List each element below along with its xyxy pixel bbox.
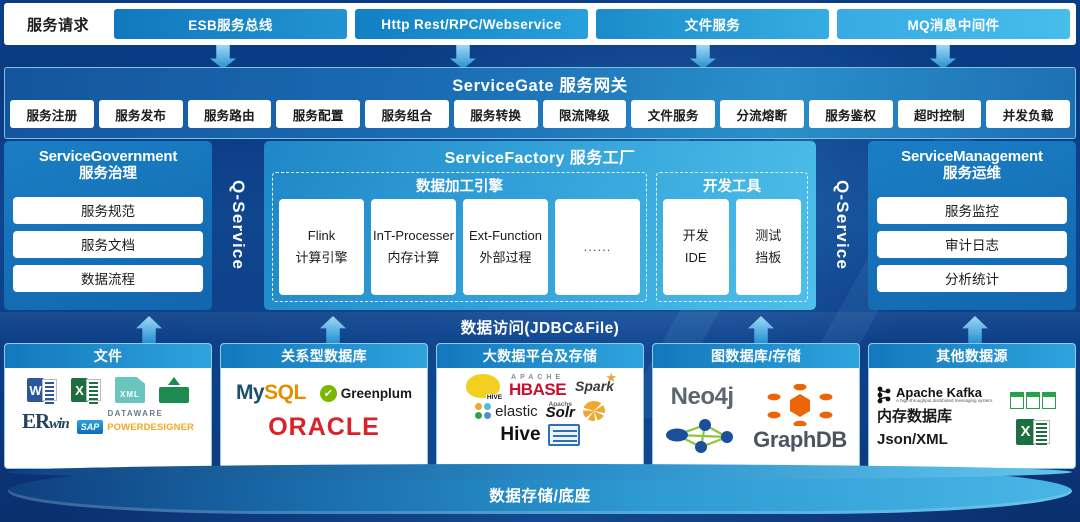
gate-chip-publish[interactable]: 服务发布 [99,100,183,128]
solr-sunburst-icon [583,401,605,421]
source-card-bigdata-title: 大数据平台及存储 [437,344,643,368]
devtool-tile-ide[interactable]: 开发 IDE [663,199,729,295]
source-card-files[interactable]: 文件 W X XML [4,343,212,469]
engine-tile-int-processer-desc: 内存计算 [387,251,439,265]
gate-chip-timeout[interactable]: 超时控制 [898,100,982,128]
greenplum-mark-icon: ✔ [320,385,337,402]
excel-icon: X [71,378,101,402]
service-management-title-en: ServiceManagement [877,148,1067,166]
service-management-title-cn: 服务运维 [877,166,1067,183]
greenplum-logo-text: Greenplum [341,386,412,401]
management-item-monitor[interactable]: 服务监控 [877,197,1067,224]
xml-icon: XML [115,377,145,403]
bigdata-logo-row-3: Hive [443,424,637,446]
file-logo-row-1: W X XML [11,377,205,403]
devtool-tile-test[interactable]: 测试 挡板 [736,199,802,295]
neo4j-logo: Neo4j [671,383,734,411]
service-government-panel: ServiceGovernment 服务治理 服务规范 服务文档 数据流程 [4,141,212,310]
kafka-logo-tagline: A high-throughput distributed messaging … [896,399,993,404]
devtool-tile-test-name: 测试 [755,229,781,243]
data-source-cards: 文件 W X XML [4,343,1076,469]
green-upload-icon [159,377,189,403]
service-gate-title: ServiceGate 服务网关 [10,72,1070,100]
elastic-mark-icon [475,403,491,419]
source-card-bigdata[interactable]: 大数据平台及存储 APACHE HBASE Spark [436,343,644,469]
service-government-title-cn: 服务治理 [13,166,203,183]
erwin-logo: ERwin [22,409,69,434]
data-access-bar: 数据访问(JDBC&File) [0,312,1080,342]
mysql-logo: MySQL [236,381,306,405]
gate-chip-fileservice[interactable]: 文件服务 [631,100,715,128]
graphdb-logo: GraphDB [753,427,847,453]
gate-chip-transform[interactable]: 服务转换 [454,100,538,128]
source-card-rdbms-body: MySQL ✔ Greenplum ORACLE [221,368,427,468]
gate-chip-circuitbreaker[interactable]: 分流熔断 [720,100,804,128]
storage-platform-label: 数据存储/底座 [0,462,1080,520]
neo4j-graph-icon [665,413,739,453]
gate-chip-route[interactable]: 服务路由 [188,100,272,128]
xml-icon-label: XML [120,390,140,399]
engine-tile-int-processer-name: InT-Processer [373,229,454,243]
devtool-tile-ide-desc: IDE [685,251,707,265]
devtool-tile-test-desc: 挡板 [755,251,781,265]
service-management-panel: ServiceManagement 服务运维 服务监控 审计日志 分析统计 [868,141,1076,310]
engine-tile-flink-name: Flink [308,229,335,243]
engine-tile-more[interactable]: ...... [555,199,640,295]
source-card-other-body: Apache Kafka A high-throughput distribut… [869,368,1075,468]
engine-tile-flink-desc: 计算引擎 [295,251,347,265]
source-card-files-body: W X XML ERwin [5,368,211,468]
devtool-tile-ide-name: 开发 [683,229,709,243]
service-request-button-http[interactable]: Http Rest/RPC/Webservice [355,9,588,39]
bigdata-logo-row-1: APACHE HBASE Spark [443,374,637,398]
elastic-logo-text: elastic [495,403,538,420]
file-logo-row-2: ERwin DATAWARE SAP POWERDESIGNER [11,409,205,434]
governance-item-doc[interactable]: 服务文档 [13,231,203,258]
other-source-line-2: Json/XML [877,430,997,450]
arrow-down-icon [210,45,236,69]
excel-icon: X [1016,419,1050,445]
governance-item-dataflow[interactable]: 数据流程 [13,265,203,292]
greenplum-logo: ✔ Greenplum [320,385,412,402]
q-service-text-right: Q-Service [832,180,852,270]
dataware-logo: DATAWARE [107,409,163,418]
engine-tile-more-label: ...... [584,240,612,254]
engine-tile-ext-function-desc: 外部过程 [479,251,531,265]
source-card-graphdb-body: Neo4j [653,368,859,468]
rdbms-logo-row-1: MySQL ✔ Greenplum [227,381,421,405]
kafka-mark-icon [877,386,893,404]
source-card-bigdata-body: APACHE HBASE Spark elastic [437,368,643,468]
spark-logo: Spark [575,378,614,394]
dev-tools-group: 开发工具 开发 IDE 测试 挡板 [656,172,808,302]
source-card-other[interactable]: 其他数据源 [868,343,1076,469]
service-gate-chip-row: 服务注册 服务发布 服务路由 服务配置 服务组合 服务转换 限流降级 文件服务 … [10,100,1070,128]
word-icon: W [27,378,57,402]
service-factory-panel: ServiceFactory 服务工厂 数据加工引擎 Flink 计算引擎 In… [264,141,816,310]
other-source-line-1: 内存数据库 [877,407,997,427]
source-card-graphdb-title: 图数据库/存储 [653,344,859,368]
rdbms-logo-row-2: ORACLE [227,413,421,442]
source-card-other-title: 其他数据源 [869,344,1075,368]
hbase-logo-name: HBASE [509,382,566,397]
source-card-files-title: 文件 [5,344,211,368]
erwin-logo-sub: win [49,416,69,432]
dev-tools-title: 开发工具 [663,176,801,199]
q-service-label-right: Q-Service [816,141,868,310]
source-card-graphdb[interactable]: 图数据库/存储 Neo4j [652,343,860,469]
sap-logo: SAP [77,420,104,434]
oracle-logo: ORACLE [268,413,380,442]
engine-tile-ext-function[interactable]: Ext-Function 外部过程 [463,199,548,295]
mysql-logo-my: My [236,381,264,404]
service-gate-panel: ServiceGate 服务网关 服务注册 服务发布 服务路由 服务配置 服务组… [4,67,1076,139]
hive-bee-logo [466,374,500,398]
gate-chip-register[interactable]: 服务注册 [10,100,94,128]
solr-logo: Apache Solr [546,402,575,420]
gate-chip-compose[interactable]: 服务组合 [365,100,449,128]
table-grid-icon [1010,392,1056,409]
service-management-title: ServiceManagement 服务运维 [877,148,1067,183]
service-request-title: 服务请求 [10,14,106,35]
powerdesigner-logo: POWERDESIGNER [107,422,194,433]
governance-item-spec[interactable]: 服务规范 [13,197,203,224]
hive-logo: Hive [500,424,540,446]
arrow-down-icon [450,45,476,69]
hbase-logo: APACHE HBASE [509,375,566,397]
engine-tile-int-processer[interactable]: InT-Processer 内存计算 [371,199,456,295]
source-card-rdbms-title: 关系型数据库 [221,344,427,368]
service-request-button-esb[interactable]: ESB服务总线 [114,9,347,39]
service-factory-title: ServiceFactory 服务工厂 [272,146,808,172]
flow-arrows-down [0,45,1080,69]
engine-tile-flink[interactable]: Flink 计算引擎 [279,199,364,295]
arrow-down-icon [690,45,716,69]
graphdb-hex-icon [763,384,837,426]
gate-chip-concurrency[interactable]: 并发负载 [986,100,1070,128]
gate-chip-auth[interactable]: 服务鉴权 [809,100,893,128]
elastic-logo: elastic [475,403,538,420]
service-layer: ServiceGovernment 服务治理 服务规范 服务文档 数据流程 Q-… [4,141,1076,310]
hive-doc-icon [548,424,580,446]
service-government-title: ServiceGovernment 服务治理 [13,148,203,183]
data-access-label: 数据访问(JDBC&File) [461,316,619,338]
storage-platform: 数据存储/底座 [0,462,1080,520]
service-government-title-en: ServiceGovernment [13,148,203,166]
q-service-text-left: Q-Service [228,180,248,270]
management-item-analytics[interactable]: 分析统计 [877,265,1067,292]
source-card-rdbms[interactable]: 关系型数据库 MySQL ✔ Greenplum ORACLE [220,343,428,469]
q-service-label-left: Q-Service [212,141,264,310]
service-request-bar: 服务请求 ESB服务总线 Http Rest/RPC/Webservice 文件… [4,3,1076,45]
data-processing-engine-title: 数据加工引擎 [279,176,640,199]
arrow-down-icon [930,45,956,69]
engine-tile-ext-function-name: Ext-Function [469,229,542,243]
service-request-button-mq[interactable]: MQ消息中间件 [837,9,1070,39]
mysql-logo-sql: SQL [264,381,306,404]
erwin-logo-text: ER [22,409,49,433]
service-request-button-file[interactable]: 文件服务 [596,9,829,39]
management-item-auditlog[interactable]: 审计日志 [877,231,1067,258]
kafka-logo: Apache Kafka A high-throughput distribut… [877,386,997,404]
solr-logo-name: Solr [546,407,575,420]
data-processing-engine-group: 数据加工引擎 Flink 计算引擎 InT-Processer 内存计算 Ext… [272,172,647,302]
gate-chip-config[interactable]: 服务配置 [276,100,360,128]
gate-chip-throttle[interactable]: 限流降级 [543,100,627,128]
bigdata-logo-row-2: elastic Apache Solr [443,401,637,421]
